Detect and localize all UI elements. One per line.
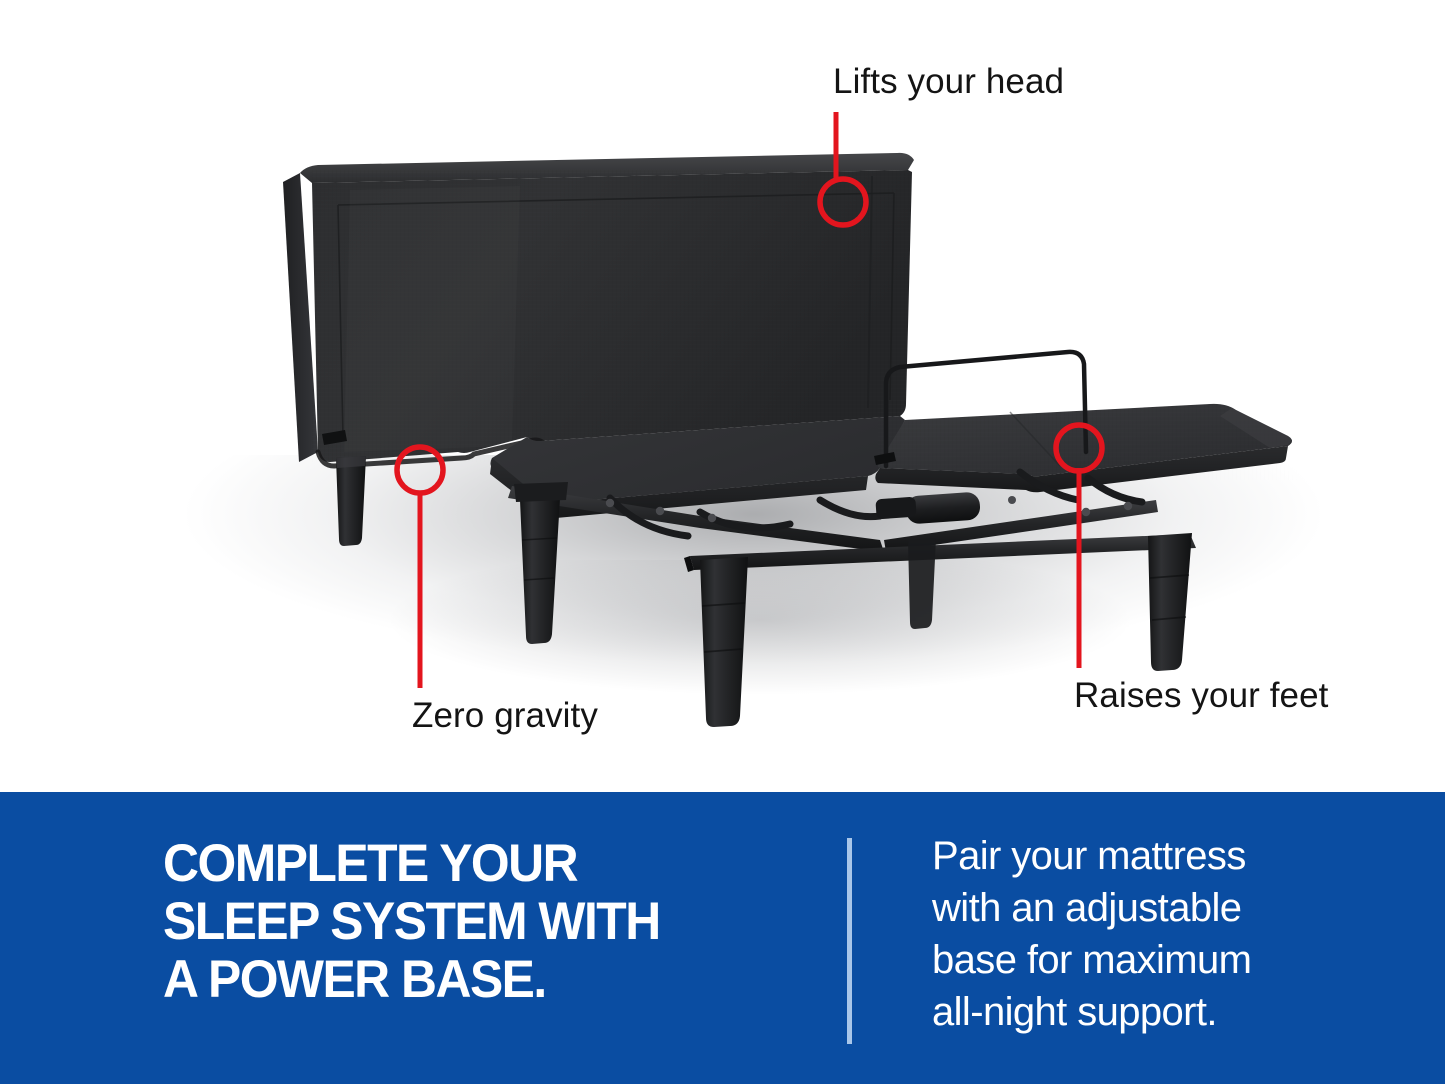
body-line-3: base for maximum — [932, 934, 1352, 986]
body-line-1: Pair your mattress — [932, 830, 1352, 882]
leg-mid-left — [520, 498, 560, 644]
head-section — [283, 153, 914, 466]
headline-line-2: SLEEP SYSTEM WITH — [163, 893, 765, 951]
motor-housing — [905, 491, 981, 524]
leg-foot-right — [1148, 533, 1192, 671]
promo-banner: COMPLETE YOUR SLEEP SYSTEM WITH A POWER … — [0, 792, 1445, 1084]
product-banner: Lifts your head Zero gravity Raises your… — [0, 0, 1445, 1084]
leg-head-left — [336, 456, 366, 546]
callout-label-raises-feet: Raises your feet — [1074, 678, 1329, 713]
headline-line-1: COMPLETE YOUR — [163, 835, 765, 893]
body-line-2: with an adjustable — [932, 882, 1352, 934]
callout-label-zero-gravity: Zero gravity — [412, 698, 598, 733]
banner-divider — [847, 838, 852, 1044]
product-photo: Lifts your head Zero gravity Raises your… — [0, 0, 1445, 792]
leg-front-center — [700, 557, 748, 727]
body-line-4: all-night support. — [932, 986, 1352, 1038]
adjustable-bed-illustration — [0, 0, 1445, 792]
headline-line-3: A POWER BASE. — [163, 951, 765, 1009]
callout-label-lifts-head: Lifts your head — [833, 64, 1064, 99]
banner-headline: COMPLETE YOUR SLEEP SYSTEM WITH A POWER … — [163, 835, 803, 1009]
leg-rear-center — [908, 538, 936, 629]
banner-body-copy: Pair your mattress with an adjustable ba… — [932, 830, 1352, 1038]
